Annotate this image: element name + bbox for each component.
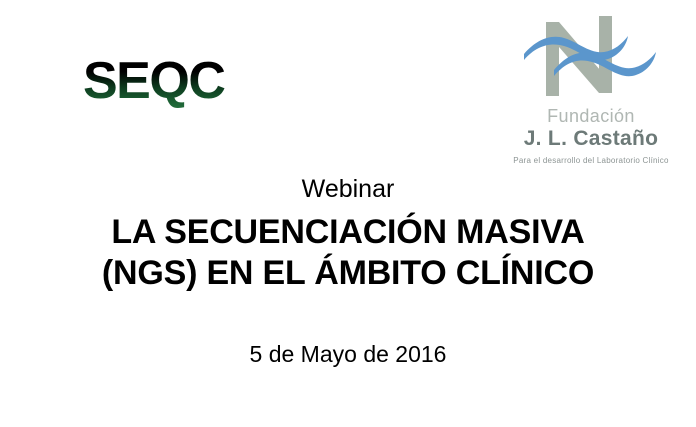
webinar-kicker: Webinar [0,174,696,204]
seqc-wordmark: SEQC [83,52,263,110]
fundacion-castano-logo: Fundación J. L. Castaño Para el desarrol… [498,14,684,164]
castano-name-line-2: J. L. Castaño [498,127,684,151]
castano-tagline: Para el desarrollo del Laboratorio Clíni… [498,155,684,166]
title-block: Webinar LA SECUENCIACIÓN MASIVA (NGS) EN… [0,174,696,294]
dna-helix-n-icon [516,14,666,102]
webinar-date: 5 de Mayo de 2016 [0,340,696,368]
headline-line-1: LA SECUENCIACIÓN MASIVA [0,212,696,253]
headline-line-2: (NGS) EN EL ÁMBITO CLÍNICO [0,253,696,294]
seqc-logo: SEQC [83,52,263,110]
webinar-headline: LA SECUENCIACIÓN MASIVA (NGS) EN EL ÁMBI… [0,212,696,294]
castano-name-line-1: Fundación [498,106,684,127]
webinar-title-slide: SEQC Fundación J. L. Castaño Para el des… [0,0,696,427]
